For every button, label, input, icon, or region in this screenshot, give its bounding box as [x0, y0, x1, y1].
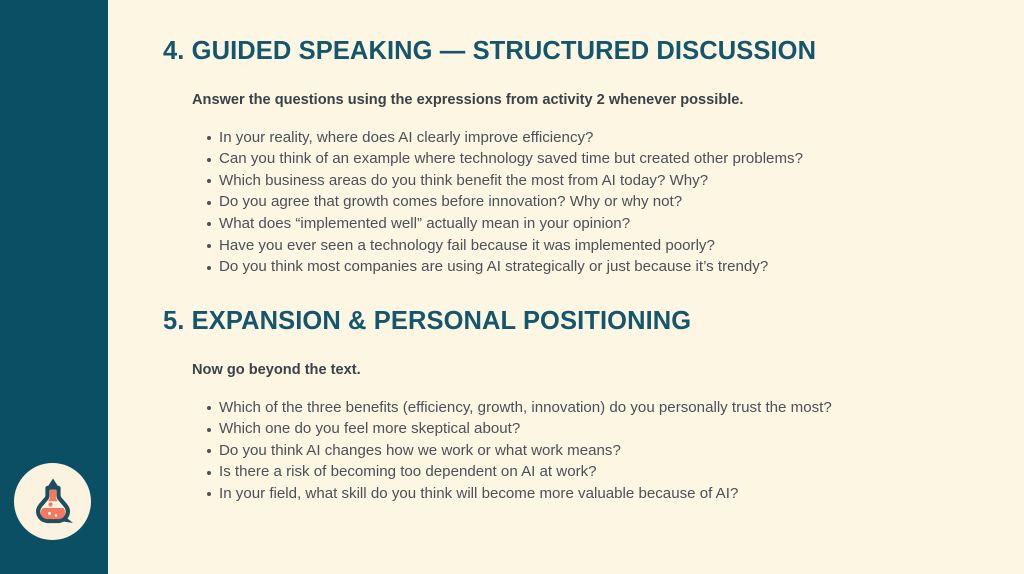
- flask-speech-bubble-icon: [29, 476, 77, 528]
- list-item: Which business areas do you think benefi…: [108, 170, 1024, 192]
- slide-content: 4. GUIDED SPEAKING — STRUCTURED DISCUSSI…: [108, 0, 1024, 574]
- list-item: Is there a risk of becoming too dependen…: [108, 461, 1024, 483]
- section-5-question-list: Which of the three benefits (efficiency,…: [108, 380, 1024, 505]
- list-item: Do you think AI changes how we work or w…: [108, 440, 1024, 462]
- section-4-question-list: In your reality, where does AI clearly i…: [108, 110, 1024, 278]
- list-item: What does “implemented well” actually me…: [108, 213, 1024, 235]
- section-expansion-positioning: 5. EXPANSION & PERSONAL POSITIONING Now …: [108, 306, 1024, 505]
- section-4-subtitle: Answer the questions using the expressio…: [108, 66, 1024, 110]
- left-sidebar-band: [0, 0, 108, 574]
- list-item: Which one do you feel more skeptical abo…: [108, 418, 1024, 440]
- section-5-subtitle: Now go beyond the text.: [108, 336, 1024, 380]
- list-item: Do you agree that growth comes before in…: [108, 191, 1024, 213]
- list-item: In your reality, where does AI clearly i…: [108, 127, 1024, 149]
- section-4-heading: 4. GUIDED SPEAKING — STRUCTURED DISCUSSI…: [108, 36, 1024, 66]
- section-5-heading: 5. EXPANSION & PERSONAL POSITIONING: [108, 306, 1024, 336]
- list-item: Which of the three benefits (efficiency,…: [108, 397, 1024, 419]
- list-item: In your field, what skill do you think w…: [108, 483, 1024, 505]
- brand-logo: [14, 463, 91, 540]
- slide-root: 4. GUIDED SPEAKING — STRUCTURED DISCUSSI…: [0, 0, 1024, 574]
- list-item: Have you ever seen a technology fail bec…: [108, 235, 1024, 257]
- list-item: Do you think most companies are using AI…: [108, 256, 1024, 278]
- list-item: Can you think of an example where techno…: [108, 148, 1024, 170]
- section-guided-speaking: 4. GUIDED SPEAKING — STRUCTURED DISCUSSI…: [108, 36, 1024, 278]
